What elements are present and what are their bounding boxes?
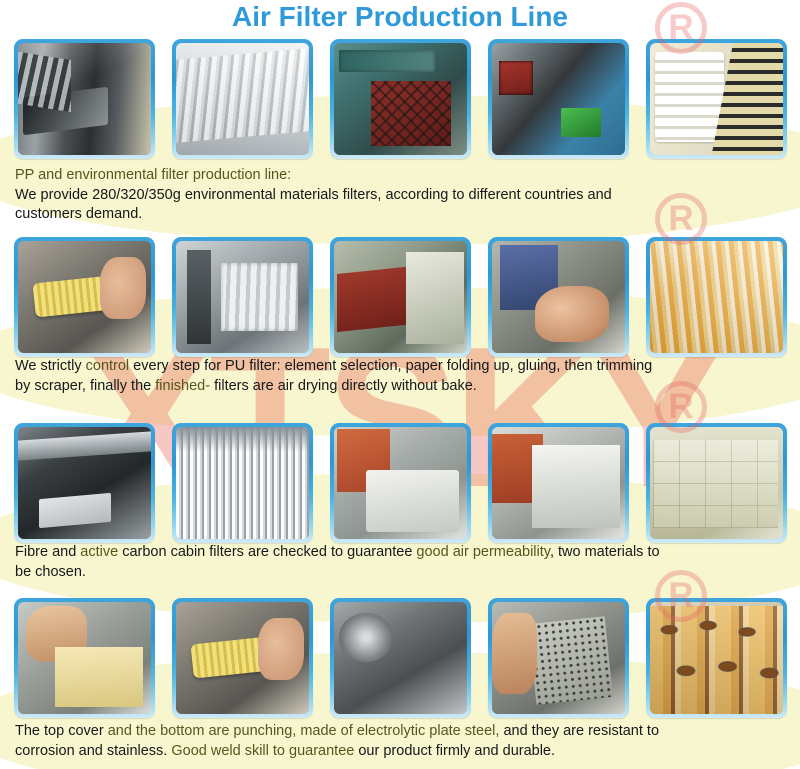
photo-pleated-cabin-filter [176, 427, 309, 539]
highlighted-phrase: control [86, 358, 130, 374]
photo-frame [646, 237, 787, 357]
photo-frame [172, 237, 313, 357]
photo-cutting-table [18, 427, 151, 539]
photo-frame [14, 598, 155, 718]
photo-perforated-steel-sheet [492, 602, 625, 714]
photo-stacked-filter-blocks [650, 427, 783, 539]
highlighted-phrase: and the bottom are punching, made of ele… [108, 723, 500, 739]
photo-punching-lathe [334, 602, 467, 714]
photo-worker-trimming-filter [492, 427, 625, 539]
caption-pp-environmental: PP and environmental filter production l… [15, 166, 790, 225]
caption-line: PP and environmental filter production l… [15, 166, 790, 186]
highlighted-phrase: Good weld skill to guarantee [171, 743, 354, 759]
photo-frame [488, 39, 629, 159]
highlighted-phrase: good air permeability [416, 544, 550, 560]
photo-frame [172, 598, 313, 718]
caption-line: We strictly control every step for PU fi… [15, 357, 790, 377]
photo-frame [172, 423, 313, 543]
caption-line: customers demand. [15, 205, 790, 225]
photo-workbench-assembly [334, 241, 467, 353]
photo-air-filter-canisters [650, 602, 783, 714]
photo-finished-panel-filters [650, 43, 783, 155]
photo-worker-inspecting-filter [334, 427, 467, 539]
caption-top-cover-bottom: The top cover and the bottom are punchin… [15, 722, 790, 761]
page-title: Air Filter Production Line [0, 1, 800, 33]
photo-injection-molding-machine [492, 43, 625, 155]
photo-worker-handling-media [176, 602, 309, 714]
photo-paper-folding-machine [176, 241, 309, 353]
photo-row-4 [14, 598, 788, 718]
photo-white-pleated-media [176, 43, 309, 155]
highlighted-phrase: active [80, 544, 118, 560]
photo-frame [330, 39, 471, 159]
photo-frame [488, 598, 629, 718]
photo-hr-2000-machine [334, 43, 467, 155]
page-root: XTSKY R R R R Air Filter Production Line… [0, 0, 800, 769]
caption-line: Fibre and active carbon cabin filters ar… [15, 543, 790, 563]
caption-pu-filter: We strictly control every step for PU fi… [15, 357, 790, 396]
photo-frame [172, 39, 313, 159]
photo-yellow-media-roll [18, 241, 151, 353]
caption-line: corrosion and stainless. Good weld skill… [15, 742, 790, 762]
photo-frame [646, 39, 787, 159]
photo-frame [330, 237, 471, 357]
caption-line: We provide 280/320/350g environmental ma… [15, 186, 790, 206]
photo-worker-gluing [492, 241, 625, 353]
photo-frame [646, 598, 787, 718]
photo-frame [646, 423, 787, 543]
photo-frame [330, 598, 471, 718]
highlighted-phrase: PP and environmental filter production l… [15, 167, 291, 183]
photo-frame [488, 237, 629, 357]
photo-frame [488, 423, 629, 543]
highlighted-phrase: finished- [155, 378, 210, 394]
photo-media-roller-machine [18, 602, 151, 714]
photo-row-3 [14, 423, 788, 543]
photo-row-2 [14, 237, 788, 357]
caption-line: The top cover and the bottom are punchin… [15, 722, 790, 742]
photo-frame [14, 237, 155, 357]
caption-line: by scraper, finally the finished- filter… [15, 377, 790, 397]
caption-line: be chosen. [15, 563, 790, 583]
photo-frame [14, 39, 155, 159]
photo-drying-racks [650, 241, 783, 353]
photo-row-1 [14, 39, 788, 159]
photo-cutting-machine [18, 43, 151, 155]
photo-frame [14, 423, 155, 543]
caption-cabin-filter: Fibre and active carbon cabin filters ar… [15, 543, 790, 582]
photo-frame [330, 423, 471, 543]
